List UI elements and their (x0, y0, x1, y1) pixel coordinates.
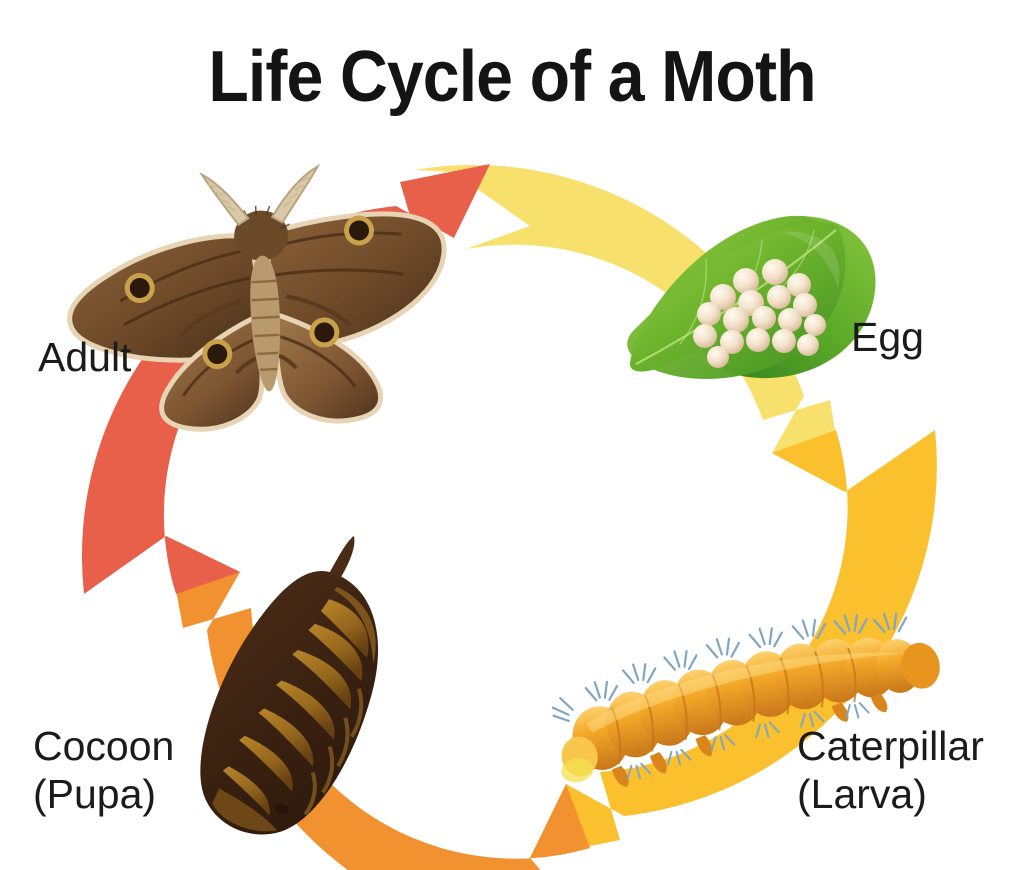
stage-label-cocoon: Cocoon (Pupa) (33, 722, 174, 819)
stage-label-egg: Egg (851, 313, 924, 361)
stage-label-adult: Adult (38, 333, 131, 381)
moth-shape (62, 160, 453, 436)
moth-antennae-barbs (207, 177, 310, 212)
diagram-canvas: Life Cycle of a Moth (0, 0, 1024, 870)
stage-label-caterpillar: Caterpillar (Larva) (797, 722, 984, 819)
